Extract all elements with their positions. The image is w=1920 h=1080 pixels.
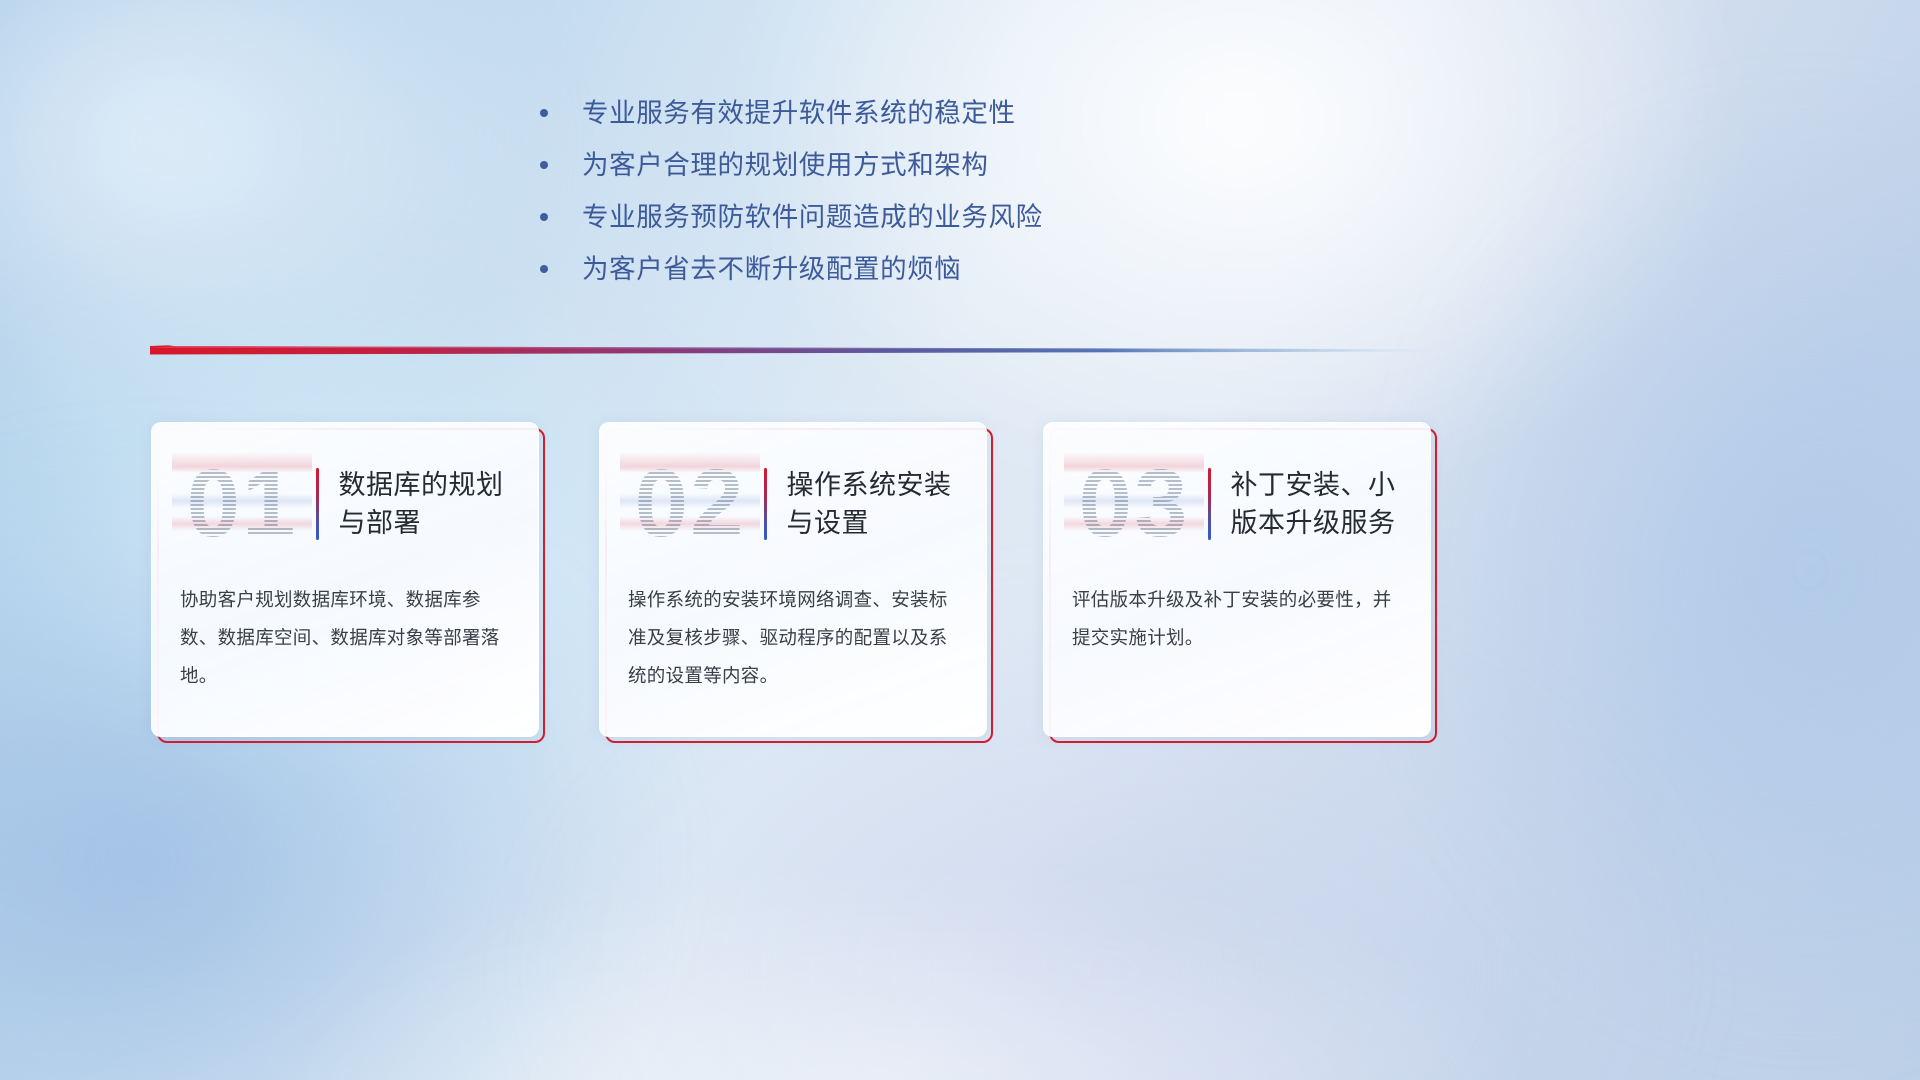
list-item: 专业服务有效提升软件系统的稳定性 (540, 96, 1440, 148)
card-divider-line (1208, 468, 1211, 540)
service-card-group: 01 数据库的规划 与部署 协助客户规划数据库环境、数据库参数、数据库空间、数据… (151, 422, 1451, 744)
slide-canvas: 专业服务有效提升软件系统的稳定性 为客户合理的规划使用方式和架构 专业服务预防软… (0, 0, 1920, 1080)
card-number: 03 (1079, 452, 1190, 556)
card-number-badge: 02 (620, 452, 760, 556)
service-card[interactable]: 03 补丁安装、小 版本升级服务 评估版本升级及补丁安装的必要性，并提交实施计划… (1043, 422, 1431, 737)
card-title: 操作系统安装 与设置 (787, 466, 966, 542)
card-header: 02 操作系统安装 与设置 (600, 449, 986, 559)
card-body-text: 评估版本升级及补丁安装的必要性，并提交实施计划。 (1072, 581, 1406, 657)
card-number: 02 (635, 452, 746, 556)
bullet-text: 为客户省去不断升级配置的烦恼 (582, 252, 961, 286)
list-item: 专业服务预防软件问题造成的业务风险 (540, 200, 1440, 252)
service-card[interactable]: 02 操作系统安装 与设置 操作系统的安装环境网络调查、安装标准及复核步骤、驱动… (599, 422, 987, 737)
card-body-text: 协助客户规划数据库环境、数据库参数、数据库空间、数据库对象等部署落地。 (180, 581, 514, 695)
section-divider (150, 340, 1440, 362)
card-title-line-2: 与设置 (787, 504, 952, 542)
card-panel: 02 操作系统安装 与设置 操作系统的安装环境网络调查、安装标准及复核步骤、驱动… (599, 422, 987, 737)
card-divider-line (764, 468, 767, 540)
card-title: 数据库的规划 与部署 (339, 466, 518, 542)
bullet-text: 为客户合理的规划使用方式和架构 (582, 148, 989, 182)
card-number-badge: 01 (172, 452, 312, 556)
card-title-line-1: 数据库的规划 (339, 466, 504, 504)
card-title-line-1: 操作系统安装 (787, 466, 952, 504)
card-title-line-2: 与部署 (339, 504, 504, 542)
card-header: 03 补丁安装、小 版本升级服务 (1044, 449, 1430, 559)
card-title-line-1: 补丁安装、小 (1231, 466, 1396, 504)
card-panel: 03 补丁安装、小 版本升级服务 评估版本升级及补丁安装的必要性，并提交实施计划… (1043, 422, 1431, 737)
card-body-text: 操作系统的安装环境网络调查、安装标准及复核步骤、驱动程序的配置以及系统的设置等内… (628, 581, 962, 695)
benefits-bullet-list: 专业服务有效提升软件系统的稳定性 为客户合理的规划使用方式和架构 专业服务预防软… (540, 96, 1440, 304)
bullet-text: 专业服务有效提升软件系统的稳定性 (582, 96, 1016, 130)
card-title-line-2: 版本升级服务 (1231, 504, 1396, 542)
list-item: 为客户合理的规划使用方式和架构 (540, 148, 1440, 200)
card-number: 01 (187, 452, 298, 556)
card-title: 补丁安装、小 版本升级服务 (1231, 466, 1410, 542)
service-card[interactable]: 01 数据库的规划 与部署 协助客户规划数据库环境、数据库参数、数据库空间、数据… (151, 422, 539, 737)
bullet-dot-icon (540, 161, 548, 169)
bullet-dot-icon (540, 265, 548, 273)
card-divider-line (316, 468, 319, 540)
bullet-dot-icon (540, 213, 548, 221)
bullet-text: 专业服务预防软件问题造成的业务风险 (582, 200, 1043, 234)
list-item: 为客户省去不断升级配置的烦恼 (540, 252, 1440, 304)
card-header: 01 数据库的规划 与部署 (152, 449, 538, 559)
card-number-badge: 03 (1064, 452, 1204, 556)
bullet-dot-icon (540, 109, 548, 117)
card-panel: 01 数据库的规划 与部署 协助客户规划数据库环境、数据库参数、数据库空间、数据… (151, 422, 539, 737)
